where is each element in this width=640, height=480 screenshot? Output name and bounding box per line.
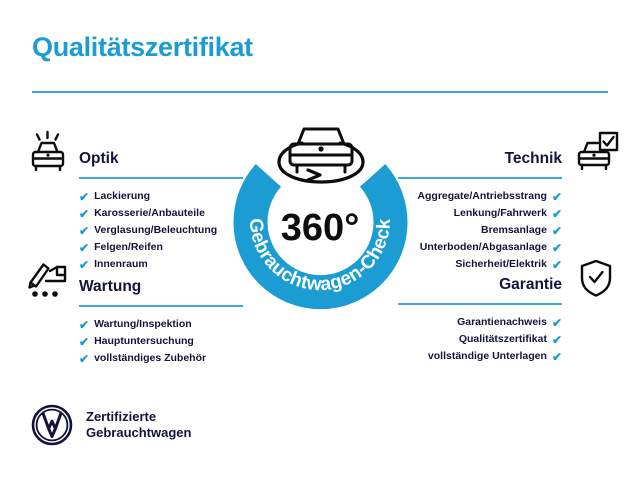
list-item: Garantienachweis✔ xyxy=(398,314,620,331)
list-item: Aggregate/Antriebsstrang✔ xyxy=(398,188,620,205)
list-item: ✔Wartung/Inspektion xyxy=(24,316,246,333)
section-header-optik: Optik xyxy=(24,130,246,176)
list-item-label: Wartung/Inspektion xyxy=(94,316,192,333)
list-item-label: Lenkung/Fahrwerk xyxy=(454,205,547,222)
list-item-label: Felgen/Reifen xyxy=(94,239,163,256)
section-technik: Technik Aggregate/Antriebsstrang✔ Lenkun… xyxy=(398,130,620,273)
list-item-label: Garantienachweis xyxy=(457,314,547,331)
check-icon: ✔ xyxy=(79,353,89,365)
list-item: Bremsanlage✔ xyxy=(398,222,620,239)
check-icon: ✔ xyxy=(79,336,89,348)
car-checkbox-icon xyxy=(572,130,620,174)
360-gebrauchtwagen-check-badge: Gebrauchtwagen-Check 360° xyxy=(228,112,413,312)
list-item: Unterboden/Abgasanlage✔ xyxy=(398,239,620,256)
pen-car-checklist-icon xyxy=(24,258,72,302)
check-icon: ✔ xyxy=(552,225,562,237)
list-item-label: Karosserie/Anbauteile xyxy=(94,205,205,222)
check-icon: ✔ xyxy=(79,242,89,254)
volkswagen-certified-logo: Zertifizierte Gebrauchtwagen xyxy=(30,403,191,447)
list-item: ✔Hauptuntersuchung xyxy=(24,333,246,350)
check-icon: ✔ xyxy=(552,208,562,220)
check-icon: ✔ xyxy=(552,191,562,203)
list-item: vollständige Unterlagen✔ xyxy=(398,348,620,365)
page-title: Qualitätszertifikat xyxy=(32,32,253,63)
list-item-label: Qualitätszertifikat xyxy=(459,331,547,348)
logo-line-1: Zertifizierte xyxy=(86,409,156,424)
checklist-wartung: ✔Wartung/Inspektion ✔Hauptuntersuchung ✔… xyxy=(24,307,246,367)
section-header-garantie: Garantie xyxy=(398,256,620,302)
volkswagen-logo-text: Zertifizierte Gebrauchtwagen xyxy=(86,409,191,441)
list-item-label: Verglasung/Beleuchtung xyxy=(94,222,217,239)
check-icon: ✔ xyxy=(552,242,562,254)
section-title-garantie: Garantie xyxy=(499,276,562,294)
list-item-label: vollständige Unterlagen xyxy=(428,348,547,365)
check-icon: ✔ xyxy=(79,208,89,220)
list-item-label: Hauptuntersuchung xyxy=(94,333,194,350)
volkswagen-logo-icon xyxy=(30,403,74,447)
logo-line-2: Gebrauchtwagen xyxy=(86,425,191,440)
list-item-label: vollständiges Zubehör xyxy=(94,350,206,367)
section-wartung: Wartung ✔Wartung/Inspektion ✔Hauptunters… xyxy=(24,258,246,367)
section-title-optik: Optik xyxy=(79,150,119,168)
check-icon: ✔ xyxy=(79,191,89,203)
list-item-label: Aggregate/Antriebsstrang xyxy=(417,188,547,205)
section-header-wartung: Wartung xyxy=(24,258,246,304)
car-rotation-360-icon xyxy=(279,129,363,182)
list-item-label: Lackierung xyxy=(94,188,150,205)
car-shine-icon xyxy=(24,130,72,174)
check-icon: ✔ xyxy=(79,319,89,331)
check-icon: ✔ xyxy=(552,334,562,346)
check-icon: ✔ xyxy=(552,317,562,329)
list-item: ✔Verglasung/Beleuchtung xyxy=(24,222,246,239)
section-garantie: Garantie Garantienachweis✔ Qualitätszert… xyxy=(398,256,620,365)
header-divider xyxy=(32,91,608,93)
checklist-garantie: Garantienachweis✔ Qualitätszertifikat✔ v… xyxy=(398,305,620,365)
list-item-label: Bremsanlage xyxy=(481,222,547,239)
section-header-technik: Technik xyxy=(398,130,620,176)
badge-center-label: 360° xyxy=(281,207,360,249)
list-item: ✔vollständiges Zubehör xyxy=(24,350,246,367)
list-item: ✔Felgen/Reifen xyxy=(24,239,246,256)
section-title-technik: Technik xyxy=(505,150,562,168)
list-item: ✔Karosserie/Anbauteile xyxy=(24,205,246,222)
list-item: Lenkung/Fahrwerk✔ xyxy=(398,205,620,222)
section-optik: Optik ✔Lackierung ✔Karosserie/Anbauteile… xyxy=(24,130,246,273)
check-icon: ✔ xyxy=(552,351,562,363)
check-icon: ✔ xyxy=(79,225,89,237)
list-item: ✔Lackierung xyxy=(24,188,246,205)
shield-check-icon xyxy=(572,256,620,300)
section-title-wartung: Wartung xyxy=(79,278,141,296)
list-item-label: Unterboden/Abgasanlage xyxy=(420,239,547,256)
list-item: Qualitätszertifikat✔ xyxy=(398,331,620,348)
